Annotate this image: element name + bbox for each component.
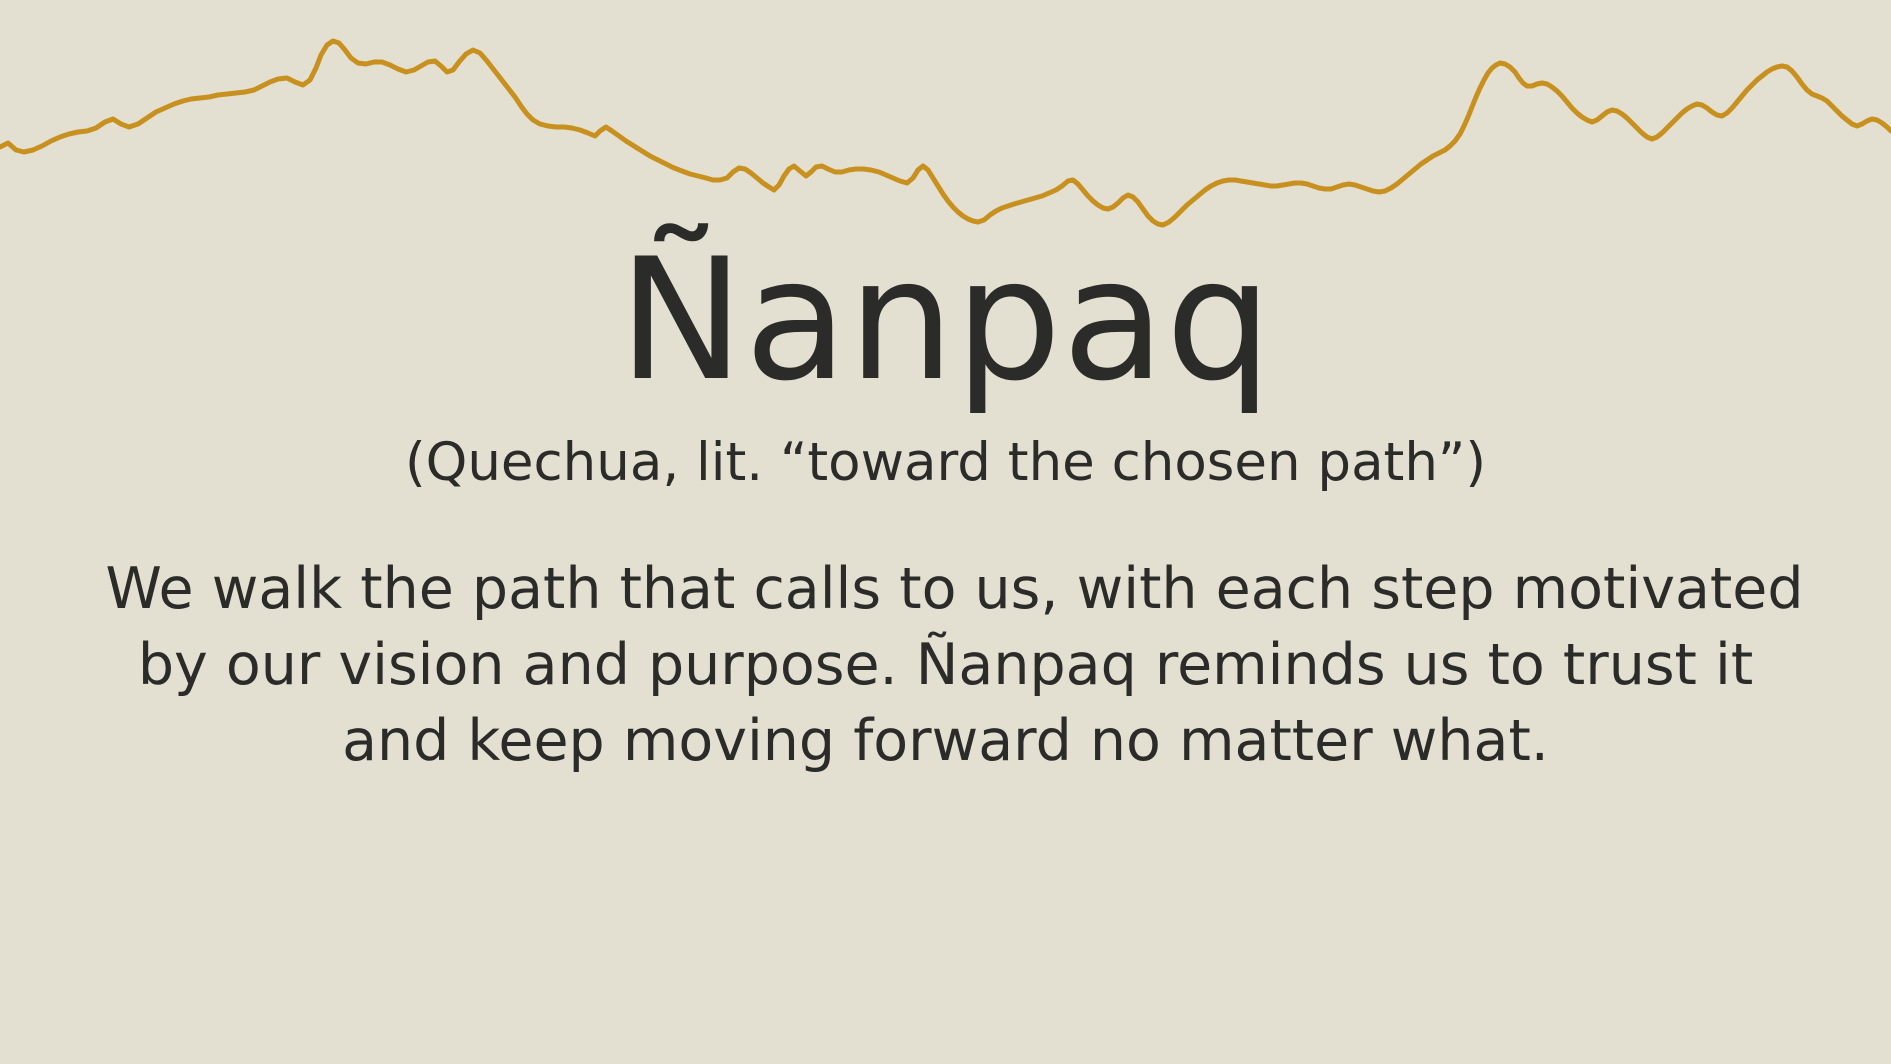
page-title: Ñanpaq bbox=[90, 236, 1801, 404]
mountain-ridge-path bbox=[0, 41, 1891, 225]
title-translation-subtitle: (Quechua, lit. “toward the chosen path”) bbox=[90, 430, 1801, 496]
mountain-ridge-decoration bbox=[0, 0, 1891, 260]
slide-canvas: Ñanpaq (Quechua, lit. “toward the chosen… bbox=[0, 0, 1891, 1064]
slide-content: Ñanpaq (Quechua, lit. “toward the chosen… bbox=[0, 236, 1891, 780]
body-line-3: and keep moving forward no matter what. bbox=[106, 704, 1786, 780]
body-paragraph: We walk the path that calls to us, with … bbox=[106, 552, 1786, 779]
body-line-2: by our vision and purpose. Ñanpaq remind… bbox=[106, 628, 1786, 704]
body-line-1: We walk the path that calls to us, with … bbox=[106, 552, 1786, 628]
